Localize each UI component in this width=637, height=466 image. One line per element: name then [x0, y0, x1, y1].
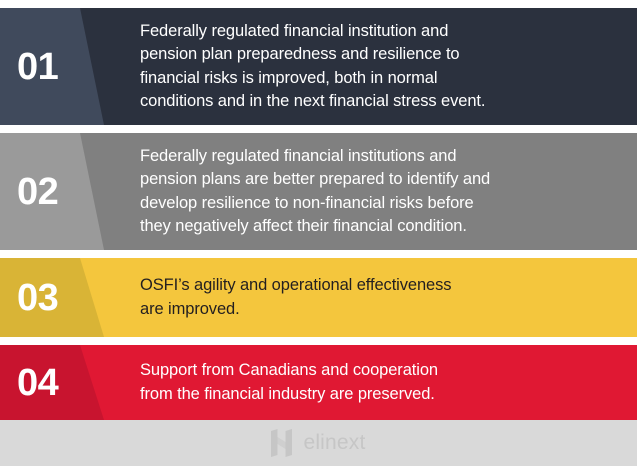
outcome-number-4: 04 — [0, 364, 58, 402]
outcome-row-4: 04 Support from Canadians and cooperatio… — [0, 345, 637, 420]
outcome-text-1: Federally regulated financial institutio… — [140, 8, 623, 125]
outcome-text-4: Support from Canadians and cooperation f… — [140, 345, 623, 420]
outcome-row-2: 02 Federally regulated financial institu… — [0, 133, 637, 250]
footer-watermark: elinext — [0, 420, 637, 466]
outcome-number-2: 02 — [0, 173, 58, 211]
outcome-text-line: pension plan preparedness and resilience… — [140, 43, 623, 66]
outcome-text-line: develop resilience to non-financial risk… — [140, 192, 623, 215]
outcome-text-line: pension plans are better prepared to ide… — [140, 168, 623, 191]
outcome-number-plate-3: 03 — [0, 258, 104, 337]
infographic-board: 01 Federally regulated financial institu… — [0, 0, 637, 466]
outcome-text-3: OSFI’s agility and operational effective… — [140, 258, 623, 337]
elinext-n-logo-icon — [271, 429, 292, 457]
outcome-text-line: OSFI’s agility and operational effective… — [140, 274, 623, 297]
outcome-number-3: 03 — [0, 279, 58, 317]
elinext-logo-text: elinext — [303, 431, 365, 455]
outcome-text-line: from the financial industry are preserve… — [140, 383, 623, 406]
outcome-number-plate-2: 02 — [0, 133, 104, 250]
outcome-row-3: 03 OSFI’s agility and operational effect… — [0, 258, 637, 337]
outcome-text-2: Federally regulated financial institutio… — [140, 133, 623, 250]
outcome-number-plate-1: 01 — [0, 8, 104, 125]
outcome-text-line: conditions and in the next financial str… — [140, 90, 623, 113]
outcome-row-1: 01 Federally regulated financial institu… — [0, 8, 637, 125]
outcome-text-line: Federally regulated financial institutio… — [140, 20, 623, 43]
outcome-text-line: they negatively affect their financial c… — [140, 215, 623, 238]
outcome-text-line: are improved. — [140, 298, 623, 321]
outcome-number-1: 01 — [0, 48, 58, 86]
outcome-text-line: financial risks is improved, both in nor… — [140, 67, 623, 90]
outcome-number-plate-4: 04 — [0, 345, 104, 420]
outcome-text-line: Support from Canadians and cooperation — [140, 359, 623, 382]
outcome-text-line: Federally regulated financial institutio… — [140, 145, 623, 168]
